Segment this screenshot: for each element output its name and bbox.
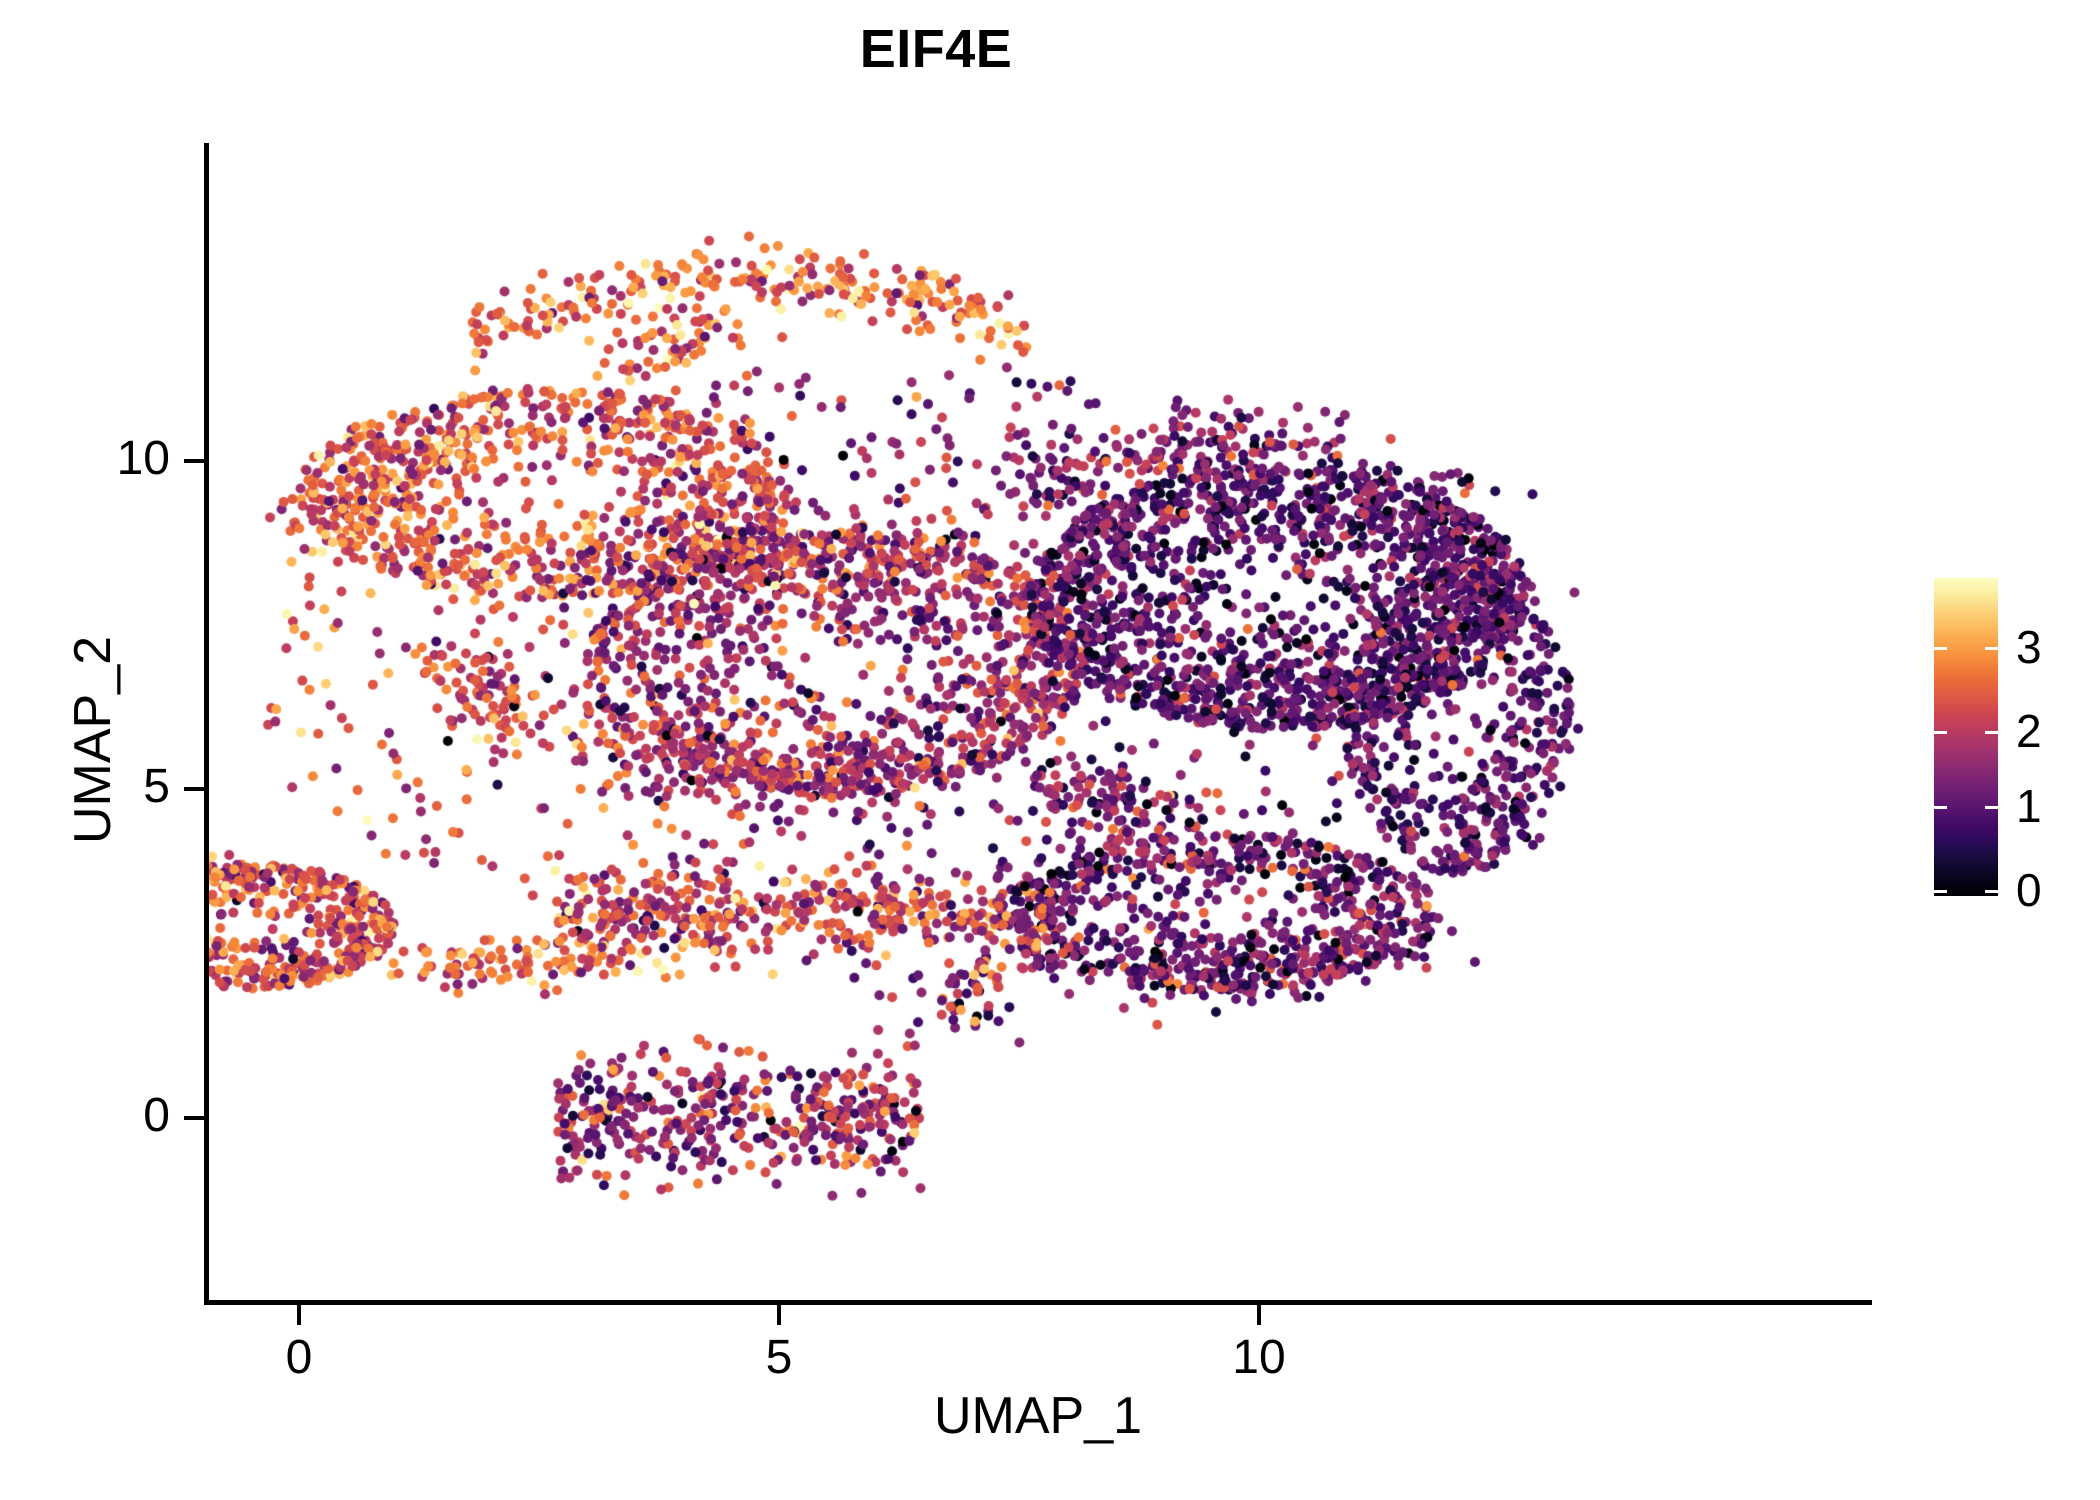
y-tick-mark-10 (184, 459, 204, 463)
color-legend: 3 2 1 0 (1934, 578, 2094, 898)
x-tick-label-5: 5 (699, 1334, 859, 1382)
legend-tick-0-right (1985, 890, 1998, 893)
page-title: EIF4E (0, 22, 1872, 76)
legend-tick-2-left (1934, 731, 1947, 734)
x-tick-label-0: 0 (219, 1334, 379, 1382)
y-tick-mark-0 (184, 1116, 204, 1120)
x-axis-title: UMAP_1 (204, 1390, 1872, 1442)
umap-feature-plot: EIF4E 10 5 0 0 5 10 UMAP_1 UMAP_2 3 2 1 … (0, 0, 2100, 1500)
y-axis-title: UMAP_2 (67, 340, 119, 1140)
y-axis-line (204, 143, 209, 1305)
scatter-points-layer (204, 143, 1872, 1300)
legend-label-0: 0 (2016, 867, 2042, 913)
legend-tick-1-right (1985, 806, 1998, 809)
x-tick-mark-5 (777, 1305, 781, 1325)
legend-label-2: 2 (2016, 708, 2042, 754)
y-tick-mark-5 (184, 787, 204, 791)
x-tick-label-10: 10 (1179, 1334, 1339, 1382)
legend-tick-3-right (1985, 647, 1998, 650)
legend-tick-0-left (1934, 890, 1947, 893)
legend-tick-1-left (1934, 806, 1947, 809)
colorbar-gradient (1934, 578, 1998, 896)
legend-label-1: 1 (2016, 783, 2042, 829)
legend-tick-2-right (1985, 731, 1998, 734)
x-tick-mark-10 (1257, 1305, 1261, 1325)
x-axis-line (204, 1300, 1872, 1305)
legend-label-3: 3 (2016, 624, 2042, 670)
x-tick-mark-0 (297, 1305, 301, 1325)
plot-panel (204, 143, 1872, 1300)
legend-tick-3-left (1934, 647, 1947, 650)
